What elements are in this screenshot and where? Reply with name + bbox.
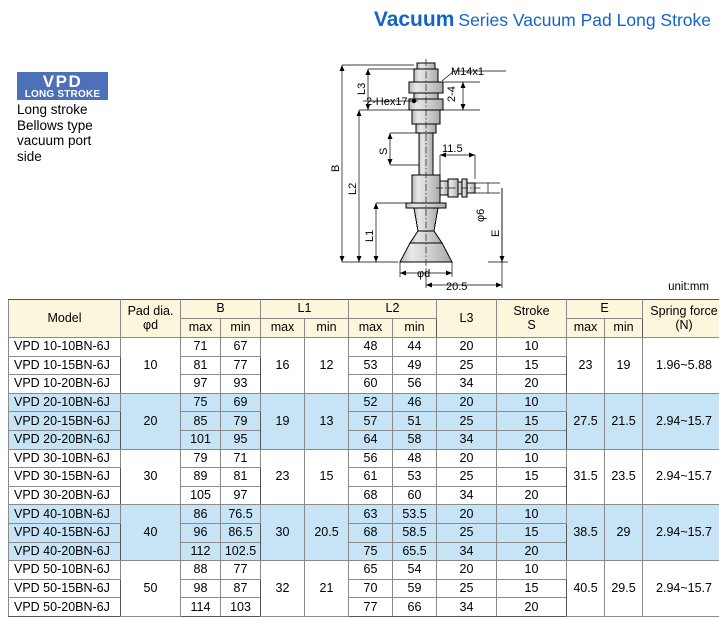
cell-b-min: 103 [221,598,261,617]
th-pad-dia: Pad dia. φd [121,300,181,338]
cell-b-max: 114 [181,598,221,617]
cell-stroke: 15 [497,412,567,431]
cell-b-min: 71 [221,449,261,468]
label-b: B [330,165,342,172]
cell-l2-max: 60 [349,375,393,394]
cell-stroke: 20 [497,598,567,617]
th-b-min: min [221,319,261,338]
cell-l2-min: 66 [393,598,437,617]
th-model: Model [9,300,121,338]
page-title-sub: Series Vacuum Pad Long Stroke [458,10,711,30]
cell-model: VPD 20-10BN-6J [9,393,121,412]
cell-l2-max: 70 [349,579,393,598]
cell-l2-min: 53.5 [393,505,437,524]
cell-e-min: 29 [605,505,643,561]
cell-stroke: 20 [497,486,567,505]
cell-stroke: 20 [497,542,567,561]
cell-b-max: 79 [181,449,221,468]
cell-model: VPD 20-20BN-6J [9,430,121,449]
cell-b-min: 77 [221,356,261,375]
cell-model: VPD 50-10BN-6J [9,561,121,580]
cell-e-min: 21.5 [605,393,643,449]
cell-b-min: 77 [221,561,261,580]
th-l1: L1 [261,300,349,319]
th-l1-min: min [305,319,349,338]
cell-spring-force: 2.94~15.7 [643,561,719,617]
th-stroke-line1: Stroke [513,304,549,318]
cell-spring-force: 2.94~15.7 [643,393,719,449]
cell-stroke: 15 [497,579,567,598]
cell-l3: 20 [437,505,497,524]
cell-l3: 34 [437,375,497,394]
cell-l2-min: 46 [393,393,437,412]
cell-l2-max: 75 [349,542,393,561]
cell-model: VPD 40-10BN-6J [9,505,121,524]
th-spring-force-line1: Spring force [650,304,717,318]
cell-stroke: 15 [497,468,567,487]
cell-e-max: 27.5 [567,393,605,449]
cell-model: VPD 10-10BN-6J [9,338,121,357]
th-spring-force: Spring force (N) [643,300,719,338]
cell-spring-force: 2.94~15.7 [643,449,719,505]
label-chamfer: 2-4 [446,86,458,102]
th-spring-force-line2: (N) [675,318,692,332]
cell-b-max: 81 [181,356,221,375]
label-stroke: S [378,148,390,155]
th-stroke-line2: S [527,318,535,332]
cell-spring-force: 1.96~5.88 [643,338,719,394]
label-l1: L1 [364,230,376,242]
table-row: VPD 30-10BN-6J30797123155648201031.523.5… [9,449,719,468]
cell-l2-max: 68 [349,523,393,542]
cell-l2-min: 54 [393,561,437,580]
product-description-block: VPD LONG STROKE Long stroke Bellows type… [17,72,137,164]
th-e-max: max [567,319,605,338]
cell-l3: 20 [437,449,497,468]
cell-l1-max: 23 [261,449,305,505]
cell-model: VPD 30-15BN-6J [9,468,121,487]
cell-e-min: 19 [605,338,643,394]
cell-l3: 34 [437,598,497,617]
cell-stroke: 10 [497,561,567,580]
cell-pad-dia: 30 [121,449,181,505]
unit-note: unit:mm [668,281,709,293]
description-line-1: Long stroke [17,102,137,118]
vpd-badge-sub: LONG STROKE [17,90,108,100]
cell-stroke: 10 [497,449,567,468]
page-title-main: Vacuum [374,8,455,31]
cell-spring-force: 2.94~15.7 [643,505,719,561]
cell-l3: 25 [437,356,497,375]
table-header: Model Pad dia. φd B L1 L2 L3 Stroke S E … [9,300,719,338]
cell-l2-max: 64 [349,430,393,449]
cell-stroke: 15 [497,356,567,375]
cell-l1-min: 12 [305,338,349,394]
cell-model: VPD 10-20BN-6J [9,375,121,394]
cell-l2-min: 65.5 [393,542,437,561]
cell-pad-dia: 20 [121,393,181,449]
cell-b-min: 69 [221,393,261,412]
cell-b-min: 79 [221,412,261,431]
cell-l2-min: 58.5 [393,523,437,542]
vpd-badge: VPD LONG STROKE [17,72,108,100]
label-e: E [490,230,502,237]
label-l2: L2 [347,183,359,195]
table-row: VPD 40-10BN-6J408676.53020.56353.5201038… [9,505,719,524]
cell-l2-max: 52 [349,393,393,412]
label-hex: 2-Hex17 [366,96,408,108]
cell-l1-min: 20.5 [305,505,349,561]
cell-l2-max: 57 [349,412,393,431]
cell-b-max: 105 [181,486,221,505]
cell-model: VPD 50-15BN-6J [9,579,121,598]
label-pad-dia: φd [417,268,430,280]
cell-e-max: 38.5 [567,505,605,561]
cell-l1-max: 19 [261,393,305,449]
cell-l2-min: 53 [393,468,437,487]
th-e: E [567,300,643,319]
cell-b-max: 86 [181,505,221,524]
page-title: VacuumSeries Vacuum Pad Long Stroke [374,8,711,32]
cell-b-max: 96 [181,523,221,542]
cell-l3: 20 [437,561,497,580]
cell-b-max: 112 [181,542,221,561]
technical-drawing: M14x1 2-Hex17 2-4 11.5 φ6 S L3 L2 L1 B E… [330,57,520,292]
th-e-min: min [605,319,643,338]
cell-e-max: 40.5 [567,561,605,617]
cell-l1-max: 30 [261,505,305,561]
cell-b-min: 86.5 [221,523,261,542]
description-line-3: vacuum port [17,133,137,149]
cell-l1-min: 21 [305,561,349,617]
specification-table: Model Pad dia. φd B L1 L2 L3 Stroke S E … [8,299,719,617]
cell-l1-min: 15 [305,449,349,505]
th-l3: L3 [437,300,497,338]
cell-b-max: 97 [181,375,221,394]
cell-stroke: 15 [497,523,567,542]
cell-l2-min: 49 [393,356,437,375]
cell-l3: 34 [437,430,497,449]
cell-l2-min: 44 [393,338,437,357]
cell-l2-max: 56 [349,449,393,468]
cell-b-min: 81 [221,468,261,487]
cell-l1-min: 13 [305,393,349,449]
cell-l3: 25 [437,523,497,542]
cell-l1-max: 16 [261,338,305,394]
cell-b-max: 89 [181,468,221,487]
label-base-offset: 20.5 [446,281,467,292]
label-l3: L3 [356,83,368,95]
table-row: VPD 10-10BN-6J10716716124844201023191.96… [9,338,719,357]
cell-pad-dia: 50 [121,561,181,617]
cell-b-min: 102.5 [221,542,261,561]
cell-stroke: 10 [497,393,567,412]
description-line-4: side [17,149,137,165]
table-row: VPD 20-10BN-6J20756919135246201027.521.5… [9,393,719,412]
cell-l2-max: 77 [349,598,393,617]
cell-stroke: 10 [497,505,567,524]
cell-model: VPD 40-20BN-6J [9,542,121,561]
cell-l2-max: 63 [349,505,393,524]
cell-l2-max: 65 [349,561,393,580]
vpd-badge-main: VPD [17,72,108,90]
cell-l3: 25 [437,579,497,598]
cell-l3: 34 [437,542,497,561]
th-l2: L2 [349,300,437,319]
table-row: VPD 50-10BN-6J50887732216554201040.529.5… [9,561,719,580]
cell-l3: 20 [437,338,497,357]
cell-l2-max: 61 [349,468,393,487]
cell-l2-min: 51 [393,412,437,431]
cell-l3: 34 [437,486,497,505]
cell-b-max: 98 [181,579,221,598]
cell-b-max: 75 [181,393,221,412]
cell-l2-max: 53 [349,356,393,375]
cell-pad-dia: 10 [121,338,181,394]
cell-l3: 25 [437,468,497,487]
cell-l1-max: 32 [261,561,305,617]
th-pad-dia-line2: φd [143,318,158,332]
cell-e-min: 29.5 [605,561,643,617]
cell-stroke: 10 [497,338,567,357]
th-b: B [181,300,261,319]
cell-l2-min: 60 [393,486,437,505]
label-port-offset: 11.5 [442,143,463,155]
cell-l2-min: 59 [393,579,437,598]
th-l2-min: min [393,319,437,338]
label-port-dia: φ6 [475,209,487,222]
cell-b-min: 87 [221,579,261,598]
cell-b-min: 95 [221,430,261,449]
cell-l3: 25 [437,412,497,431]
cell-model: VPD 30-10BN-6J [9,449,121,468]
th-l2-max: max [349,319,393,338]
cell-model: VPD 40-15BN-6J [9,523,121,542]
cell-l2-max: 68 [349,486,393,505]
cell-stroke: 20 [497,375,567,394]
cell-b-min: 67 [221,338,261,357]
cell-model: VPD 20-15BN-6J [9,412,121,431]
cell-l2-min: 48 [393,449,437,468]
cell-e-min: 23.5 [605,449,643,505]
cell-model: VPD 30-20BN-6J [9,486,121,505]
cell-b-max: 101 [181,430,221,449]
cell-e-max: 31.5 [567,449,605,505]
cell-b-max: 88 [181,561,221,580]
cell-l3: 20 [437,393,497,412]
description-line-2: Bellows type [17,118,137,134]
cell-b-max: 85 [181,412,221,431]
description-lines: Long stroke Bellows type vacuum port sid… [17,102,137,164]
th-stroke: Stroke S [497,300,567,338]
cell-model: VPD 50-20BN-6J [9,598,121,617]
cell-l2-max: 48 [349,338,393,357]
th-b-max: max [181,319,221,338]
label-thread: M14x1 [451,66,484,78]
cell-l2-min: 58 [393,430,437,449]
cell-b-min: 93 [221,375,261,394]
cell-b-max: 71 [181,338,221,357]
th-l1-max: max [261,319,305,338]
table-body: VPD 10-10BN-6J10716716124844201023191.96… [9,338,719,617]
cell-l2-min: 56 [393,375,437,394]
cell-b-min: 97 [221,486,261,505]
cell-pad-dia: 40 [121,505,181,561]
th-pad-dia-line1: Pad dia. [128,304,174,318]
cell-b-min: 76.5 [221,505,261,524]
cell-stroke: 20 [497,430,567,449]
cell-model: VPD 10-15BN-6J [9,356,121,375]
cell-e-max: 23 [567,338,605,394]
